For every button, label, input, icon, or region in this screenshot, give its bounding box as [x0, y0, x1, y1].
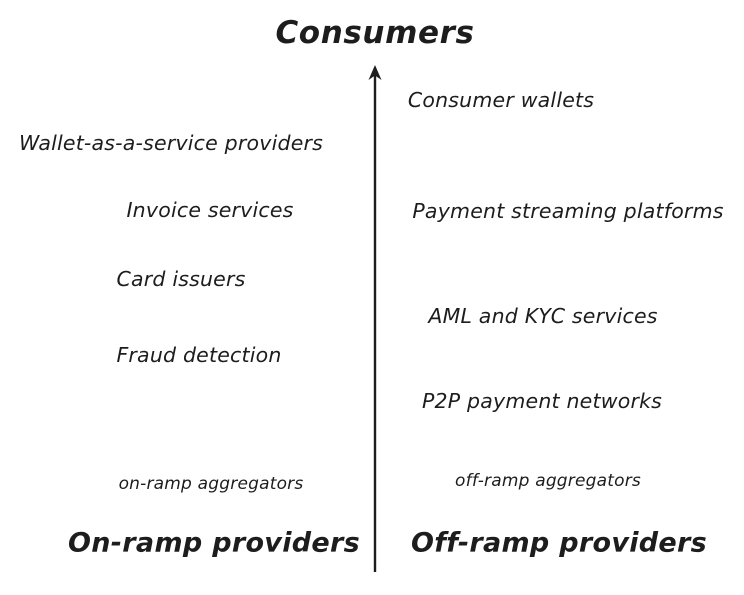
- diagram-label-on-ramp-1: Invoice services: [126, 198, 293, 222]
- column-heading-on-ramp: On-ramp providers: [68, 528, 360, 559]
- diagram-label-on-ramp-2: Card issuers: [116, 267, 245, 291]
- page-title: Consumers: [275, 15, 474, 51]
- diagram-label-on-ramp-3: Fraud detection: [116, 343, 281, 367]
- diagram-label-on-ramp-0: Wallet-as-a-service providers: [19, 131, 323, 155]
- diagram-label-off-ramp-4: off-ramp aggregators: [455, 471, 641, 491]
- arrow-head: [369, 65, 382, 80]
- column-heading-off-ramp: Off-ramp providers: [411, 528, 707, 559]
- diagram-label-off-ramp-0: Consumer wallets: [408, 88, 594, 112]
- diagram-canvas: Consumers Wallet-as-a-service providersI…: [0, 0, 744, 595]
- diagram-label-off-ramp-1: Payment streaming platforms: [412, 199, 723, 223]
- diagram-label-off-ramp-2: AML and KYC services: [428, 304, 657, 328]
- diagram-label-on-ramp-4: on-ramp aggregators: [119, 474, 304, 494]
- diagram-label-off-ramp-3: P2P payment networks: [422, 389, 662, 413]
- consumer-direction-arrow-icon: [352, 54, 398, 586]
